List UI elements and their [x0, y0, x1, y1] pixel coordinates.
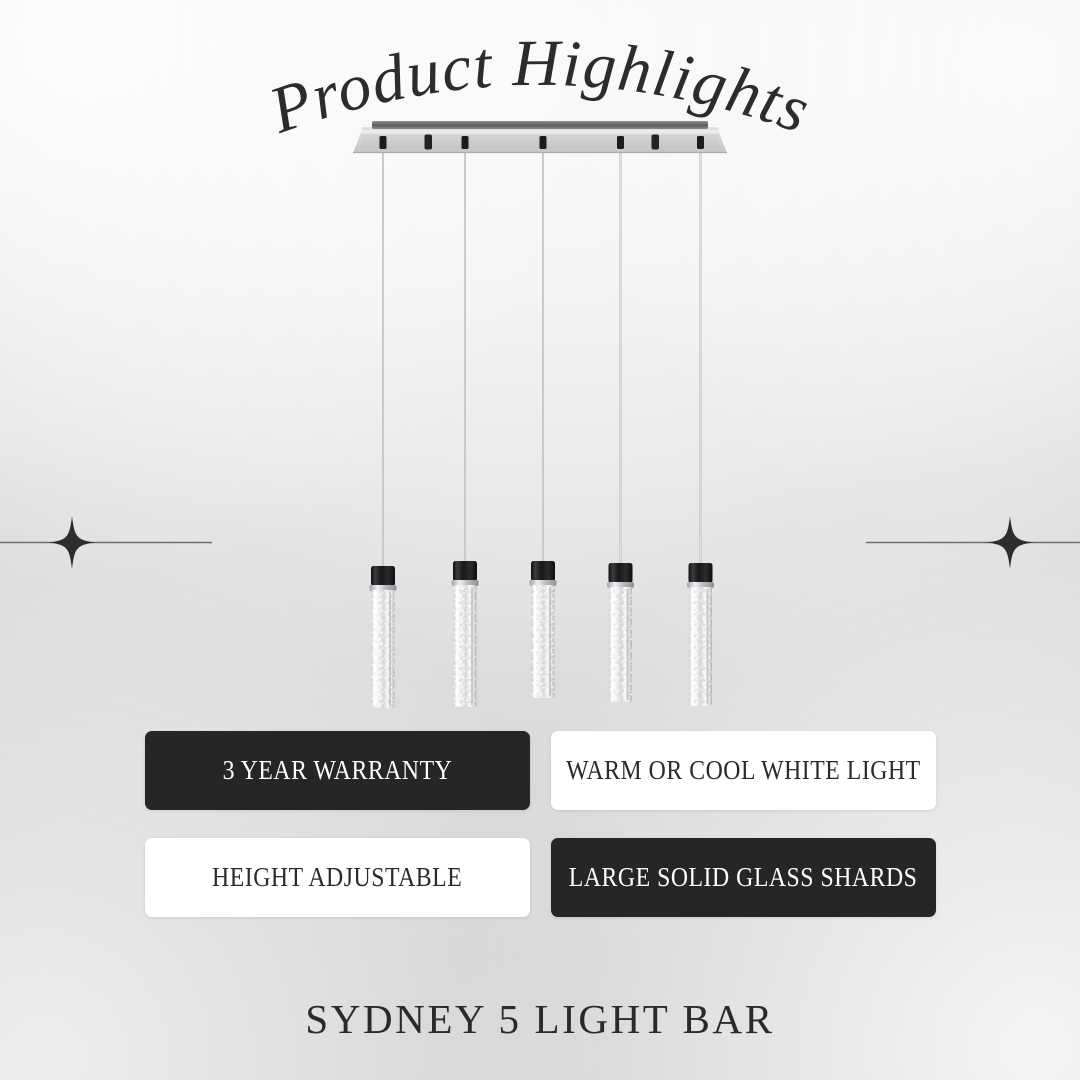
page-title-text: Product Highlights: [260, 27, 820, 148]
feature-label: WARM OR COOL WHITE LIGHT: [566, 757, 921, 784]
feature-box-height-adjustable[interactable]: HEIGHT ADJUSTABLE: [145, 838, 530, 917]
sparkle-divider-left: [0, 500, 230, 586]
pendant-cables: [382, 150, 702, 575]
pendant-light-5: [687, 563, 714, 706]
pendant-light-3: [530, 561, 557, 698]
feature-box-light-colour[interactable]: WARM OR COOL WHITE LIGHT: [551, 731, 936, 810]
pendant-light-1: [370, 566, 397, 708]
feature-label: HEIGHT ADJUSTABLE: [212, 864, 462, 891]
feature-box-warranty[interactable]: 3 YEAR WARRANTY: [145, 731, 530, 810]
four-point-star-icon: [48, 516, 96, 569]
sparkle-divider-right: [850, 500, 1080, 586]
pendant-light-2: [452, 561, 479, 707]
marketing-poster: Product Highlights: [0, 0, 1080, 1080]
four-point-star-icon: [986, 516, 1034, 569]
feature-label: 3 YEAR WARRANTY: [223, 757, 453, 784]
page-title-textpath: Product Highlights: [260, 27, 820, 148]
feature-box-glass-shards[interactable]: LARGE SOLID GLASS SHARDS: [551, 838, 936, 917]
feature-label: LARGE SOLID GLASS SHARDS: [569, 864, 918, 891]
feature-highlights-grid: 3 YEAR WARRANTY WARM OR COOL WHITE LIGHT…: [145, 731, 936, 917]
page-title: Product Highlights: [0, 14, 1080, 154]
pendant-light-4: [607, 563, 634, 702]
product-name: SYDNEY 5 LIGHT BAR: [0, 995, 1080, 1043]
